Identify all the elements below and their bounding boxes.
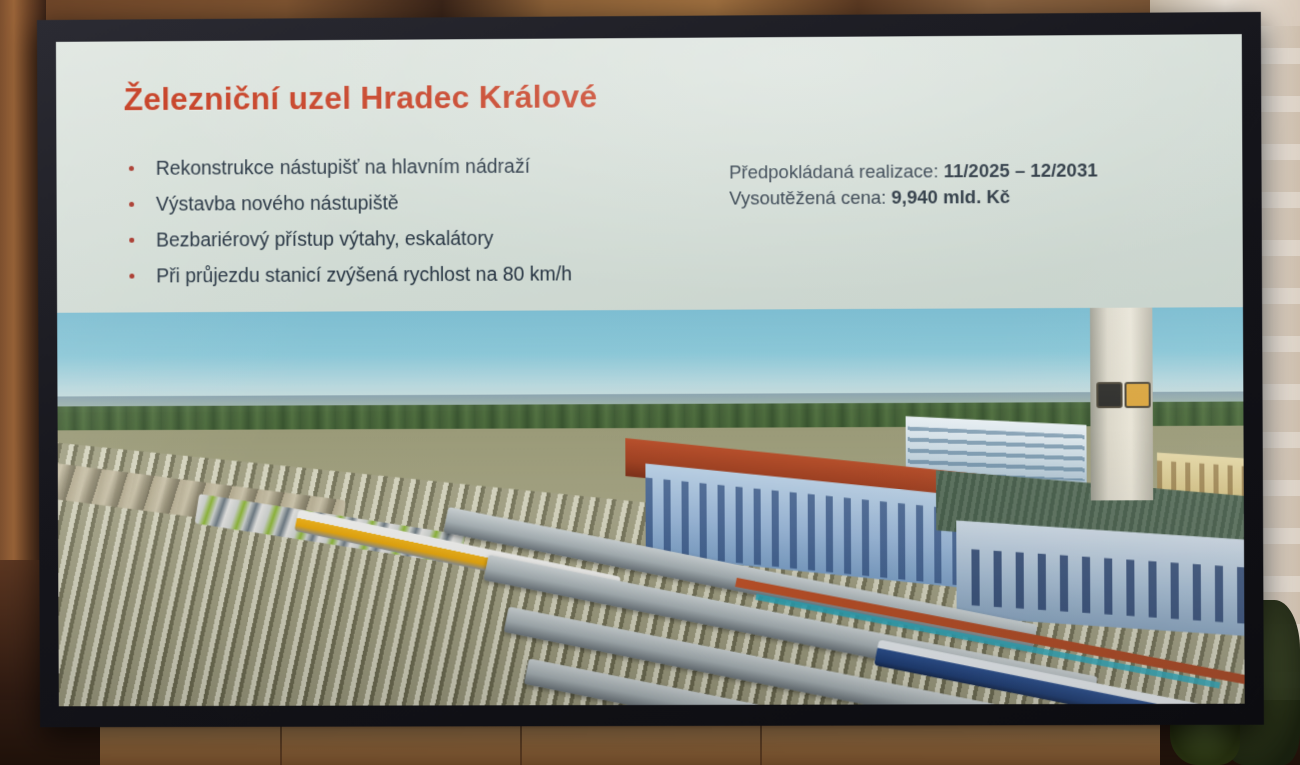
list-item-label: Při průjezdu stanicí zvýšená rychlost na… <box>156 262 572 289</box>
list-item-label: Rekonstrukce nástupišť na hlavním nádraž… <box>156 155 530 182</box>
tv-screen: Železniční uzel Hradec Králové Rekonstru… <box>56 34 1245 706</box>
slide-photo <box>57 307 1245 706</box>
list-item: Při průjezdu stanicí zvýšená rychlost na… <box>124 261 722 289</box>
bullet-dot-icon <box>129 166 134 171</box>
page-title: Železniční uzel Hradec Králové <box>124 78 598 118</box>
fact-price-label: Vysoutěžená cena: <box>729 187 886 209</box>
bullet-dot-icon <box>129 202 134 207</box>
television-display[interactable]: Železniční uzel Hradec Králové Rekonstru… <box>37 12 1264 727</box>
room-background: Železniční uzel Hradec Králové Rekonstru… <box>0 0 1300 765</box>
fact-schedule-label: Předpokládaná realizace: <box>729 160 938 182</box>
list-item-label: Výstavba nového nástupiště <box>156 191 399 217</box>
clock-face-icon <box>1096 382 1122 408</box>
fact-price-value: 9,940 mld. Kč <box>891 186 1010 208</box>
clock-face-icon <box>1124 382 1150 408</box>
bullet-list: Rekonstrukce nástupišť na hlavním nádraž… <box>124 154 723 301</box>
list-item: Výstavba nového nástupiště <box>124 190 722 218</box>
list-item: Rekonstrukce nástupišť na hlavním nádraž… <box>124 154 722 182</box>
list-item: Bezbariérový přístup výtahy, eskalátory <box>124 226 722 254</box>
presentation-slide: Železniční uzel Hradec Králové Rekonstru… <box>56 34 1245 706</box>
fact-schedule-value: 11/2025 – 12/2031 <box>944 159 1098 181</box>
project-facts: Předpokládaná realizace: 11/2025 – 12/20… <box>729 157 1098 212</box>
list-item-label: Bezbariérový přístup výtahy, eskalátory <box>156 227 494 254</box>
fact-price: Vysoutěžená cena: 9,940 mld. Kč <box>729 184 1098 212</box>
fact-schedule: Předpokládaná realizace: 11/2025 – 12/20… <box>729 157 1098 185</box>
bullet-dot-icon <box>129 238 134 243</box>
bullet-dot-icon <box>129 273 134 278</box>
